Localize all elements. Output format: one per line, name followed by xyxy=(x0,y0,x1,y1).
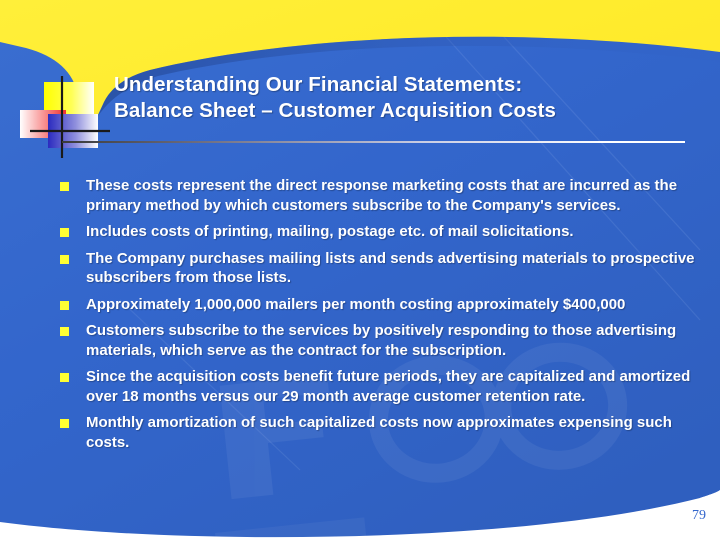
list-item-text: The Company purchases mailing lists and … xyxy=(86,249,704,288)
list-item: The Company purchases mailing lists and … xyxy=(60,249,704,288)
list-item: Monthly amortization of such capitalized… xyxy=(60,413,704,452)
square-bullet-icon xyxy=(60,419,69,428)
list-item-text: Approximately 1,000,000 mailers per mont… xyxy=(86,295,704,315)
bullet-list: These costs represent the direct respons… xyxy=(60,176,704,459)
square-bullet-icon xyxy=(60,373,69,382)
square-bullet-icon xyxy=(60,301,69,310)
list-item: Since the acquisition costs benefit futu… xyxy=(60,367,704,406)
list-item: Includes costs of printing, mailing, pos… xyxy=(60,222,704,242)
list-item-text: Monthly amortization of such capitalized… xyxy=(86,413,704,452)
list-item-text: Since the acquisition costs benefit futu… xyxy=(86,367,704,406)
square-bullet-icon xyxy=(60,255,69,264)
list-item: Approximately 1,000,000 mailers per mont… xyxy=(60,295,704,315)
square-bullet-icon xyxy=(60,182,69,191)
page-title: Understanding Our Financial Statements: … xyxy=(114,72,694,124)
page-number: 79 xyxy=(692,508,706,524)
title-line-2: Balance Sheet – Customer Acquisition Cos… xyxy=(114,98,694,124)
square-bullet-icon xyxy=(60,228,69,237)
square-bullet-icon xyxy=(60,327,69,336)
title-underline-rule xyxy=(62,141,685,143)
list-item: Customers subscribe to the services by p… xyxy=(60,321,704,360)
list-item-text: Includes costs of printing, mailing, pos… xyxy=(86,222,704,242)
list-item-text: These costs represent the direct respons… xyxy=(86,176,704,215)
presentation-slide: Understanding Our Financial Statements: … xyxy=(0,0,720,540)
title-line-1: Understanding Our Financial Statements: xyxy=(114,72,694,98)
list-item: These costs represent the direct respons… xyxy=(60,176,704,215)
list-item-text: Customers subscribe to the services by p… xyxy=(86,321,704,360)
logo-mark xyxy=(18,76,110,158)
